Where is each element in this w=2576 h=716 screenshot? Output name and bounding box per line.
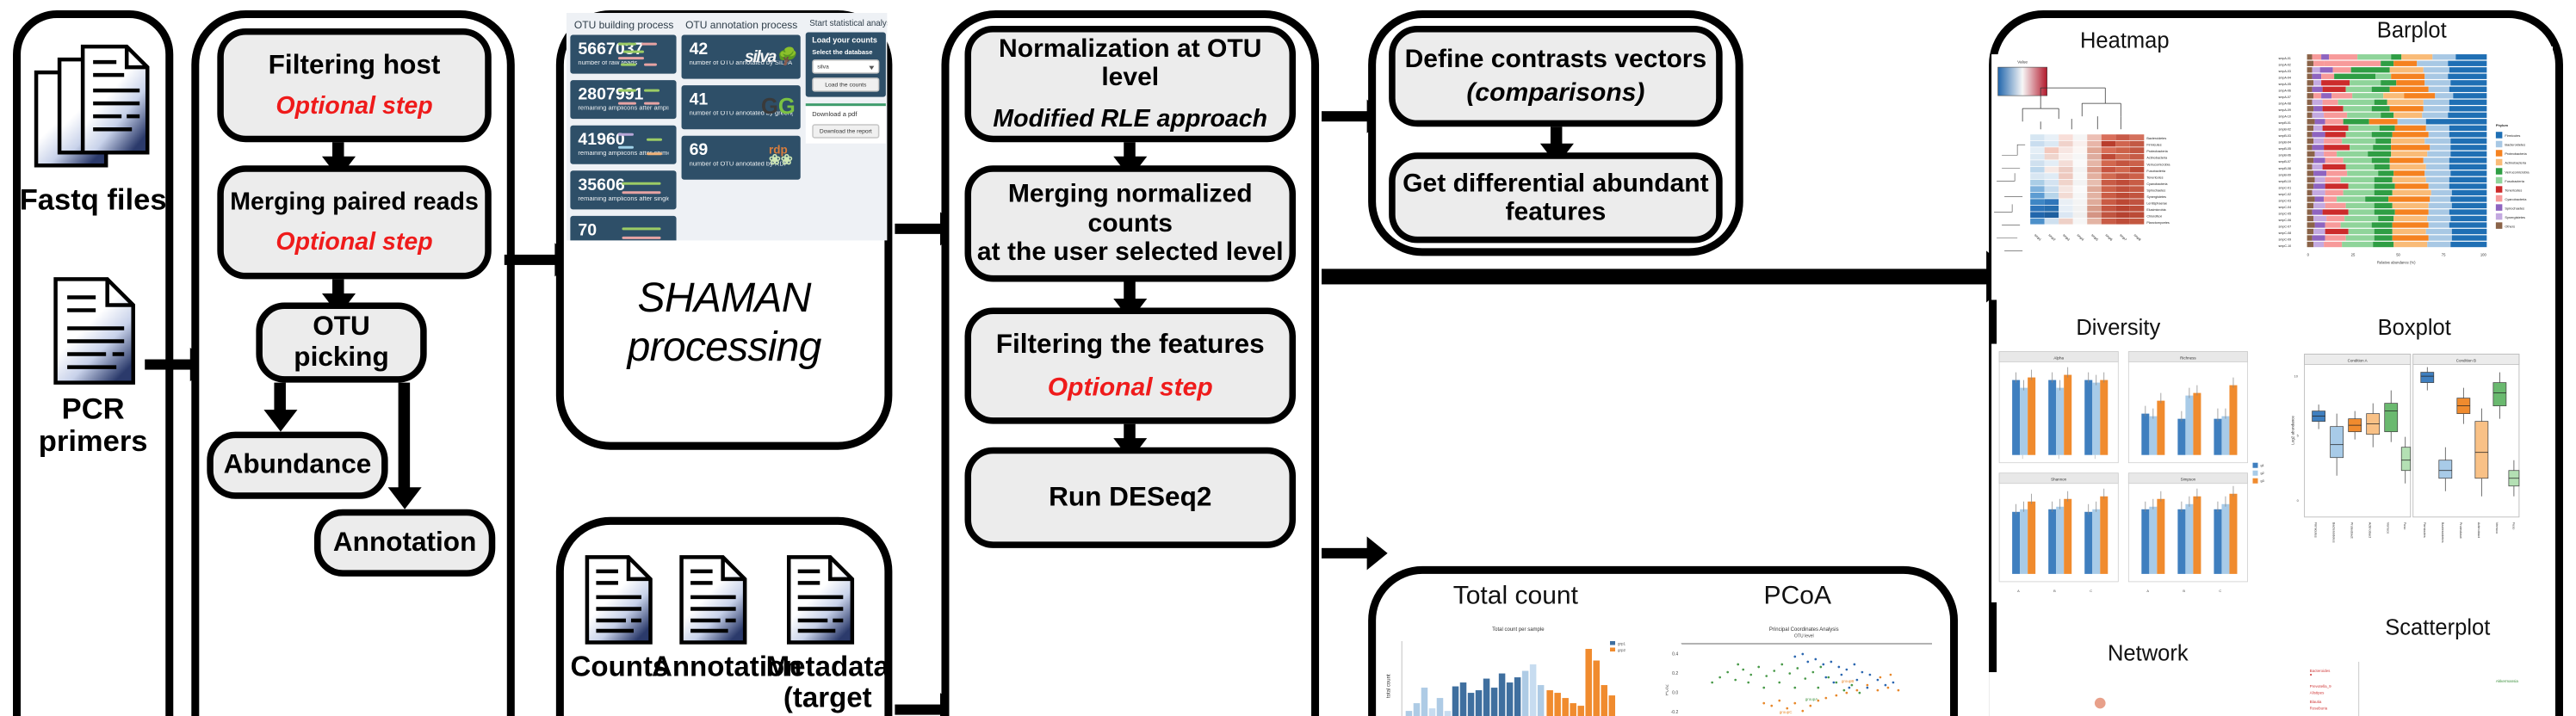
silva-logo-icon: silva🌳 [745, 46, 796, 67]
svg-text:smpC-01: smpC-01 [2279, 186, 2292, 189]
svg-text:Cyanobacteria: Cyanobacteria [2505, 197, 2527, 201]
pcr-primers-label: PCR primers [13, 393, 173, 458]
svg-text:75: 75 [2442, 252, 2446, 256]
panel-shaman-caption: SHAMAN processing [556, 274, 893, 371]
step-filtering-features-title: Filtering the features [996, 330, 1265, 360]
svg-text:25: 25 [2351, 252, 2356, 256]
svg-text:Synergistetes: Synergistetes [2146, 195, 2166, 199]
svg-text:smp4: smp4 [2077, 233, 2086, 243]
shaman-database-select[interactable]: silva [812, 59, 879, 74]
svg-text:Proteobact: Proteobact [2459, 522, 2463, 540]
sparkline-icon [618, 222, 670, 240]
plot-total-count-title: Total count [1386, 582, 1644, 612]
step-normalization: Normalization at OTU level Modified RLE … [964, 26, 1296, 142]
svg-text:Relative abundance (%): Relative abundance (%) [2377, 260, 2416, 264]
arrow-filtering-to-merging [332, 142, 344, 157]
svg-text:smpC-02: smpC-02 [2279, 193, 2292, 196]
svg-text:0.2: 0.2 [1672, 671, 1678, 676]
svg-text:Elusimicrobia: Elusimicrobia [2146, 208, 2166, 212]
svg-text:A: A [2146, 589, 2149, 593]
svg-text:smpB-04: smpB-04 [2279, 141, 2291, 145]
svg-text:C: C [2090, 589, 2092, 593]
plot-heatmap-thumb: Value [1991, 54, 2263, 299]
plot-pcoa-title: PCoA [1669, 582, 1927, 612]
svg-text:Actinobact: Actinobact [2477, 522, 2481, 539]
arrow-filtering-to-deseq [1124, 424, 1136, 440]
svg-text:0: 0 [2297, 498, 2300, 503]
svg-text:smpA-04: smpA-04 [2279, 77, 2291, 80]
step-otu-picking-title: OTU picking [263, 312, 420, 373]
svg-text:0: 0 [2307, 252, 2310, 256]
step-filtering-host: Filtering host Optional step [217, 28, 491, 142]
shaman-column-start-analysis: Start statistical analysis Load your cou… [806, 17, 886, 241]
svg-text:smp7: smp7 [2119, 233, 2127, 242]
shaman-screenshot: OTU building process 5667037 number of r… [567, 13, 887, 240]
step-merging-normalized-counts: Merging normalized counts at the user se… [964, 165, 1296, 281]
svg-text:smpA-06: smpA-06 [2279, 89, 2291, 93]
svg-text:smpC-08: smpC-08 [2279, 231, 2292, 235]
svg-text:smpB-05: smpB-05 [2279, 147, 2291, 151]
arrow-otu-to-annotation [399, 383, 411, 489]
svg-text:smpC-10: smpC-10 [2279, 244, 2292, 248]
step-filtering-host-note: Optional step [276, 93, 432, 120]
arrow-bioinfo-to-shaman [505, 255, 556, 265]
shaman-select-label: Select the database [812, 49, 879, 57]
svg-text:5: 5 [2297, 434, 2299, 438]
svg-text:PCo2: PCo2 [1666, 684, 1670, 695]
svg-text:Verrucomicrobia: Verrucomicrobia [2505, 170, 2530, 174]
step-annotation-title: Annotation [333, 528, 476, 558]
svg-text:Tenericutes: Tenericutes [2146, 176, 2163, 179]
svg-text:B: B [2183, 589, 2185, 593]
shaman-col3-title: Start statistical analysis [806, 17, 886, 33]
sparkline-icon [618, 41, 670, 67]
shaman-stat-card: 70 number of OTU [570, 216, 676, 241]
metadata-file-label: Metadata (target file) [765, 651, 889, 716]
svg-text:smpC-09: smpC-09 [2279, 238, 2292, 241]
plot-pcoa-thumb: Principal Coordinates Analysis OTU level… [1666, 615, 1942, 716]
svg-text:Firmicutes: Firmicutes [2146, 144, 2161, 147]
svg-text:Actinobacteria: Actinobacteria [2505, 161, 2526, 165]
shaman-load-counts-button[interactable]: Load the counts [812, 77, 879, 92]
pcr-primers-icon [49, 274, 145, 387]
shaman-stat-card: 2807991 remaining amplicons after amplic… [570, 80, 676, 119]
step-define-contrasts-title: Define contrasts vectors [1405, 45, 1707, 74]
fastq-files-label: Fastq files [13, 183, 173, 215]
step-define-contrasts-note: (comparisons) [1466, 79, 1644, 108]
shaman-stat-card: 5667037 number of raw reads [570, 35, 676, 74]
svg-text:10: 10 [2294, 374, 2299, 379]
svg-text:Log2 abundance: Log2 abundance [2291, 416, 2295, 445]
svg-text:g2: g2 [2261, 471, 2264, 475]
svg-text:smpB-03: smpB-03 [2279, 134, 2291, 138]
svg-text:smpB-01: smpB-01 [2279, 121, 2291, 125]
counts-file-icon [582, 553, 657, 646]
plot-boxplot-thumb: Condition A Condition B Log2 abundance [2287, 347, 2532, 592]
svg-text:smpA-01: smpA-01 [2279, 57, 2291, 60]
svg-text:A: A [2017, 589, 2020, 593]
step-annotation: Annotation [314, 509, 495, 577]
step-get-features-title: Get differential abundant features [1403, 169, 1709, 226]
svg-text:Spirochaetes: Spirochaetes [2505, 206, 2524, 210]
svg-text:smpB-06: smpB-06 [2279, 154, 2291, 157]
arrow-stats-to-diagnostic [1322, 548, 1368, 559]
svg-text:OTU level: OTU level [1794, 633, 1814, 639]
svg-text:Verrucomicrobia: Verrucomicrobia [2146, 163, 2170, 166]
plot-total-count-thumb: Total count per sample total count [1384, 618, 1652, 716]
plot-heatmap-title: Heatmap [2002, 28, 2247, 54]
annotation-file-icon [677, 553, 752, 646]
plot-scatterplot-title: Scatterplot [2328, 615, 2548, 641]
svg-text:smpA-08: smpA-08 [2279, 102, 2291, 106]
svg-text:Simpson: Simpson [2181, 478, 2196, 482]
svg-text:Phylum: Phylum [2496, 123, 2509, 127]
svg-text:groupA: groupA [1805, 697, 1818, 701]
sparkline-icon [618, 177, 670, 203]
sparkline-icon [618, 132, 670, 157]
svg-text:Bacteroidetes: Bacteroidetes [2146, 137, 2166, 140]
shaman-stat-card: 41 number of OTU annotated by greengenes… [682, 85, 801, 129]
svg-text:smpA-02: smpA-02 [2279, 64, 2291, 67]
svg-text:smp2: smp2 [2047, 233, 2056, 242]
svg-text:grp1: grp1 [1618, 642, 1626, 646]
shaman-load-title: Load your counts [812, 38, 879, 46]
shaman-download-label: Download a pdf [812, 112, 879, 120]
svg-text:Proteobacteria: Proteobacteria [2146, 150, 2168, 153]
svg-text:Alistipes: Alistipes [2310, 691, 2325, 695]
plot-diversity-thumb: Alpha Richness [1991, 344, 2270, 602]
svg-text:total count: total count [1387, 674, 1392, 698]
shaman-column-otu-building: OTU building process 5667037 number of r… [570, 17, 676, 241]
svg-text:Value: Value [2017, 60, 2028, 65]
svg-text:Fuso: Fuso [2403, 522, 2407, 530]
svg-text:smpC-07: smpC-07 [2279, 225, 2292, 228]
svg-text:g3: g3 [2261, 478, 2264, 483]
step-merging-counts-title: Merging normalized counts at the user se… [971, 180, 1289, 267]
svg-text:Proteobact: Proteobact [2350, 522, 2355, 540]
arrow-stats-to-visualization [1322, 268, 1989, 284]
arrow-contrasts-to-features [1551, 127, 1563, 145]
step-normalization-title: Normalization at OTU level [971, 35, 1289, 93]
svg-text:Tenericutes: Tenericutes [2505, 188, 2522, 192]
svg-text:g1: g1 [2261, 463, 2264, 467]
metadata-file-icon [783, 553, 858, 646]
svg-text:smpB-02: smpB-02 [2279, 128, 2291, 132]
arrow-merging-to-otu [332, 279, 344, 294]
svg-text:Firmicutes: Firmicutes [2423, 522, 2427, 538]
svg-text:Bacteroidetes: Bacteroidetes [2505, 143, 2525, 147]
shaman-load-counts-panel: Load your counts Select the database sil… [806, 33, 886, 97]
svg-text:Actinobact: Actinobact [2369, 522, 2373, 539]
svg-text:Roseburia: Roseburia [2310, 707, 2328, 711]
svg-text:Spirochaetes: Spirochaetes [2146, 188, 2165, 192]
svg-text:100: 100 [2480, 252, 2487, 256]
svg-text:Lentisphaerae: Lentisphaerae [2146, 201, 2167, 205]
arrow-otu-to-abundance [274, 383, 286, 411]
step-filtering-host-title: Filtering host [269, 50, 441, 80]
plot-diversity-title: Diversity [2002, 315, 2234, 341]
svg-text:Bacteroides: Bacteroides [2310, 669, 2331, 673]
step-normalization-note: Modified RLE approach [993, 106, 1267, 133]
svg-text:Fusobacteria: Fusobacteria [2505, 179, 2524, 183]
step-run-deseq2: Run DESeq2 [964, 447, 1296, 548]
step-filtering-features: Filtering the features Optional step [964, 307, 1296, 423]
arrow-merging-to-filtering [1124, 281, 1136, 299]
shaman-col2-title: OTU annotation process [682, 17, 801, 35]
svg-text:Cyanobacteria: Cyanobacteria [2146, 182, 2168, 186]
svg-text:Firmicutes: Firmicutes [2314, 522, 2319, 538]
svg-text:Shannon: Shannon [2051, 478, 2067, 482]
step-filtering-features-note: Optional step [1048, 373, 1213, 402]
shaman-col1-title: OTU building process [570, 17, 676, 35]
arrow-normalization-to-merging [1124, 142, 1136, 157]
shaman-column-otu-annotation: OTU annotation process 42 number of OTU … [682, 17, 801, 241]
step-get-differential-features: Get differential abundant features [1389, 152, 1723, 243]
plot-boxplot-title: Boxplot [2305, 315, 2524, 341]
svg-text:Fuso: Fuso [2511, 522, 2516, 530]
svg-text:Bacteroidetes: Bacteroidetes [2441, 522, 2445, 543]
svg-text:smpB-07: smpB-07 [2279, 160, 2291, 164]
svg-text:Condition A: Condition A [2348, 359, 2368, 363]
svg-text:smpB-09: smpB-09 [2279, 173, 2291, 176]
shaman-download-report-button[interactable]: Download the report [812, 123, 879, 138]
svg-text:groupC: groupC [1780, 710, 1793, 714]
svg-text:grp2: grp2 [1618, 648, 1626, 652]
shaman-stat-card: 35606 remaining amplicons after singleto… [570, 170, 676, 209]
svg-text:smpA-03: smpA-03 [2279, 70, 2291, 73]
svg-text:Akkermansia: Akkermansia [2496, 679, 2519, 683]
step-otu-picking: OTU picking [256, 302, 426, 382]
step-abundance-title: Abundance [224, 450, 372, 480]
plot-network-title: Network [2025, 641, 2270, 667]
svg-text:smp6: smp6 [2105, 233, 2114, 242]
svg-text:Chloroflexi: Chloroflexi [2146, 214, 2162, 218]
arrow-shaman-to-stats [895, 224, 941, 234]
step-merging-paired-reads: Merging paired reads Optional step [217, 165, 491, 279]
plot-scatterplot-thumb: Bacteroides Prevotella_9 Alistipes Blaut… [2300, 649, 2540, 716]
svg-text:0.0: 0.0 [1672, 691, 1678, 696]
svg-text:smpC-03: smpC-03 [2279, 199, 2292, 202]
shaman-stat-card: 41960 remaining amplicons after chimera … [570, 126, 676, 164]
svg-text:smp1: smp1 [2034, 233, 2042, 242]
svg-text:Blautia: Blautia [2310, 700, 2322, 704]
shaman-download-panel: Download a pdf Download the report [806, 104, 886, 143]
svg-text:Prevotella_9: Prevotella_9 [2310, 684, 2332, 688]
svg-text:smpA-10: smpA-10 [2279, 115, 2291, 119]
svg-text:Others: Others [2505, 224, 2515, 228]
step-abundance: Abundance [207, 432, 387, 499]
arrow-stats-to-contrasts [1322, 111, 1368, 121]
svg-text:50: 50 [2396, 252, 2400, 256]
svg-text:B: B [2053, 589, 2056, 593]
svg-text:smpC-06: smpC-06 [2279, 219, 2292, 222]
svg-text:Verruco: Verruco [2495, 522, 2499, 534]
svg-text:smpB-08: smpB-08 [2279, 167, 2291, 170]
svg-text:smpA-07: smpA-07 [2279, 96, 2291, 99]
svg-text:smp5: smp5 [2090, 233, 2099, 242]
svg-text:-0.2: -0.2 [1671, 710, 1679, 715]
svg-text:Richness: Richness [2180, 356, 2196, 361]
plot-barplot-title: Barplot [2289, 18, 2535, 44]
svg-text:groupB: groupB [1842, 679, 1855, 683]
svg-text:Condition B: Condition B [2456, 359, 2476, 363]
plot-network-thumb [1989, 672, 2281, 716]
svg-text:Total count per sample: Total count per sample [1492, 627, 1545, 633]
svg-text:smpA-05: smpA-05 [2279, 83, 2291, 86]
svg-text:smp8: smp8 [2133, 233, 2142, 242]
svg-text:Firmicutes: Firmicutes [2505, 133, 2520, 138]
svg-text:smp3: smp3 [2062, 233, 2071, 242]
svg-text:Verruco: Verruco [2387, 522, 2391, 534]
step-merging-title: Merging paired reads [230, 188, 479, 216]
shaman-stat-card: 69 number of OTU annotated by RDP rdp❀❀ [682, 136, 801, 180]
rdp-logo-icon: rdp❀❀ [769, 144, 793, 166]
workflow-diagram: Fastq files PCR primers Raw data submiss… [0, 0, 2576, 716]
plot-barplot-thumb: smpA-01smpA-02smpA-03 smpA-04smpA-05smpA… [2276, 46, 2553, 299]
svg-text:smpC-05: smpC-05 [2279, 212, 2292, 215]
arrow-input-to-stats [895, 705, 941, 715]
svg-text:0.4: 0.4 [1672, 652, 1678, 657]
svg-text:Synergistetes: Synergistetes [2505, 215, 2525, 219]
step-run-deseq2-title: Run DESeq2 [1049, 483, 1211, 513]
step-merging-note: Optional step [276, 229, 432, 256]
svg-text:Alpha: Alpha [2053, 356, 2064, 361]
svg-text:Bacteroidetes: Bacteroidetes [2332, 522, 2337, 543]
svg-text:Fusobacteria: Fusobacteria [2146, 170, 2166, 173]
arrow-raw-to-bioinfo [145, 360, 191, 370]
svg-text:smpC-04: smpC-04 [2279, 206, 2292, 209]
shaman-stat-card: 42 number of OTU annotated by SILVA silv… [682, 35, 801, 79]
svg-text:smpA-09: smpA-09 [2279, 108, 2291, 112]
step-define-contrasts: Define contrasts vectors (comparisons) [1389, 26, 1723, 127]
svg-text:Planctomycetes: Planctomycetes [2146, 221, 2170, 225]
sparkline-icon [618, 87, 670, 113]
svg-text:Principal Coordinates Analysis: Principal Coordinates Analysis [1769, 627, 1839, 633]
svg-text:C: C [2219, 589, 2221, 593]
svg-text:smpB-10: smpB-10 [2279, 180, 2291, 183]
svg-text:Actinobacteria: Actinobacteria [2146, 157, 2168, 160]
svg-text:Proteobacteria: Proteobacteria [2505, 151, 2527, 156]
fastq-files-icon [28, 39, 163, 181]
greengenes-logo-icon: GG [761, 95, 796, 120]
